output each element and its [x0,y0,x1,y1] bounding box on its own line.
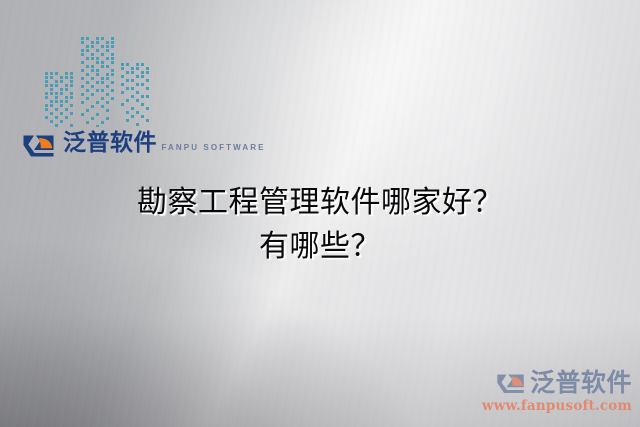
watermark-logo-row: 泛普软件 [482,367,632,397]
brand-wordmark: 泛普软件 FANPU SOFTWARE [63,132,266,155]
fanpu-logo-mark-icon [22,127,56,161]
page-title: 勘察工程管理软件哪家好？ 有哪些？ [0,181,640,269]
fanpu-logo-mark-watermark-icon [496,367,526,397]
fanpu-logo-mark-svg [22,127,56,161]
page-title-line-1: 勘察工程管理软件哪家好？ [0,181,640,225]
watermark-url: www.fanpusoft.com [482,399,632,414]
poster-canvas: 泛普软件 FANPU SOFTWARE 勘察工程管理软件哪家好？ 有哪些？ 泛普… [0,0,640,427]
page-title-line-2: 有哪些？ [0,225,640,269]
fanpu-logo-mark-watermark-svg [496,367,526,397]
brand-name-cn: 泛普软件 [63,130,157,156]
pixel-skyline-svg [44,33,150,127]
watermark-name-cn: 泛普软件 [530,370,632,395]
watermark: 泛普软件 www.fanpusoft.com [482,367,632,414]
brand-name-en: FANPU SOFTWARE [161,143,265,152]
pixel-skyline-graphic [44,33,150,127]
brand-logo: 泛普软件 FANPU SOFTWARE [22,127,266,161]
